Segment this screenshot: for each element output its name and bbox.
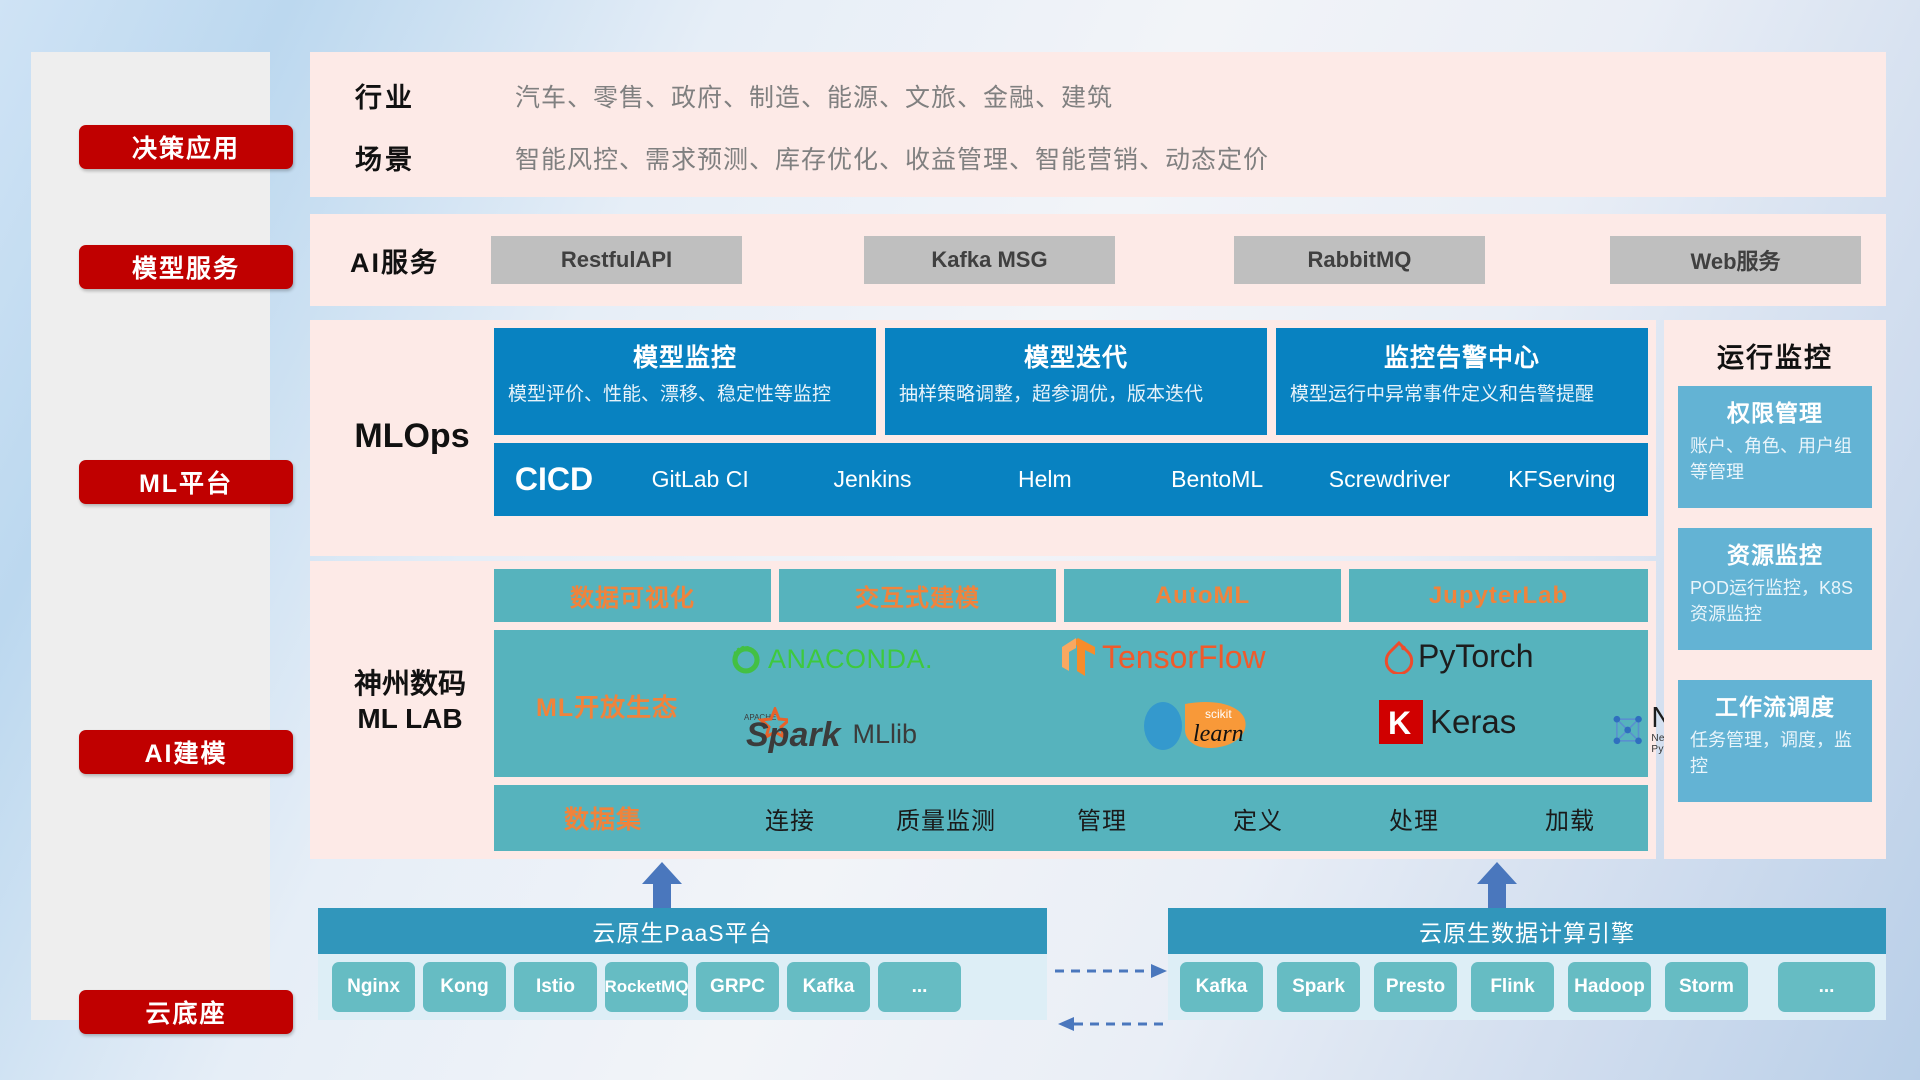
rail-item-cloud-base[interactable]: 云底座	[79, 990, 293, 1034]
chip-label: Istio	[536, 977, 575, 998]
runtime-monitor-title: 运行监控	[1664, 336, 1886, 375]
dashed-arrow-right	[1055, 962, 1170, 980]
rail-item-ml-platform[interactable]: ML平台	[79, 460, 293, 504]
anaconda-icon	[729, 642, 763, 676]
tab-label: JupyterLab	[1429, 582, 1568, 610]
service-button-web-service[interactable]: Web服务	[1610, 236, 1861, 284]
chip-more-engine[interactable]: ...	[1778, 962, 1875, 1012]
chip-presto[interactable]: Presto	[1374, 962, 1457, 1012]
chip-label: Flink	[1490, 977, 1534, 998]
arrow-up-to-modeling-left	[640, 862, 684, 914]
rail-item-ai-modeling[interactable]: AI建模	[79, 730, 293, 774]
mlops-panel: MLOps 模型监控 模型评价、性能、漂移、稳定性等监控 模型迭代 抽样策略调整…	[310, 320, 1656, 556]
spark-mllib-logo: APACHE Spark MLlib	[742, 702, 917, 755]
tab-label: AutoML	[1155, 582, 1250, 610]
cicd-item-screwdriver[interactable]: Screwdriver	[1303, 467, 1475, 491]
chip-storm[interactable]: Storm	[1665, 962, 1748, 1012]
svg-text:learn: learn	[1193, 721, 1244, 747]
svg-text:K: K	[1388, 705, 1411, 741]
runtime-monitor-panel: 运行监控 权限管理 账户、角色、用户组等管理 资源监控 POD运行监控，K8S资…	[1664, 320, 1886, 859]
scikit-learn-icon: scikit learn	[1139, 696, 1269, 752]
scenario-label-industry: 行业	[355, 76, 415, 115]
keras-wordmark: Keras	[1430, 703, 1516, 741]
scenario-text-scene: 智能风控、需求预测、库存优化、收益管理、智能营销、动态定价	[515, 140, 1269, 176]
chip-label: Nginx	[347, 977, 400, 998]
pytorch-wordmark: PyTorch	[1418, 638, 1534, 675]
ai-service-panel: AI服务 RestfulAPI Kafka MSG RabbitMQ Web服务	[310, 214, 1886, 306]
scikit-learn-logo: scikit learn	[1139, 696, 1269, 752]
anaconda-wordmark: ANACONDA.	[768, 644, 933, 675]
card-desc: 账户、角色、用户组等管理	[1690, 434, 1860, 485]
chip-grpc[interactable]: GRPC	[696, 962, 779, 1012]
mlops-card-alert-center[interactable]: 监控告警中心 模型运行中异常事件定义和告警提醒	[1276, 328, 1648, 435]
chip-label: GRPC	[710, 977, 765, 998]
ai-modeling-panel: 神州数码 ML LAB 数据可视化 交互式建模 AutoML JupyterLa…	[310, 561, 1656, 859]
mlops-label: MLOps	[332, 406, 492, 466]
card-desc: 抽样策略调整，超参调优，版本迭代	[899, 382, 1253, 409]
chip-kafka-engine[interactable]: Kafka	[1180, 962, 1263, 1012]
chip-istio[interactable]: Istio	[514, 962, 597, 1012]
service-button-rabbitmq[interactable]: RabbitMQ	[1234, 236, 1485, 284]
cicd-item-jenkins[interactable]: Jenkins	[786, 467, 958, 491]
ai-modeling-label-line2: ML LAB	[330, 701, 490, 736]
chip-label: Spark	[1292, 977, 1345, 998]
chip-label: Kafka	[1196, 977, 1248, 998]
monitor-card-workflow[interactable]: 工作流调度 任务管理，调度，监控	[1678, 680, 1872, 802]
monitor-card-resource[interactable]: 资源监控 POD运行监控，K8S资源监控	[1678, 528, 1872, 650]
tensorflow-logo: TensorFlow	[1059, 636, 1266, 678]
anaconda-logo: ANACONDA.	[729, 642, 933, 676]
dataset-item-define[interactable]: 定义	[1180, 801, 1336, 836]
tab-jupyterlab[interactable]: JupyterLab	[1349, 569, 1648, 622]
mlops-card-model-monitor[interactable]: 模型监控 模型评价、性能、漂移、稳定性等监控	[494, 328, 876, 435]
tab-interactive-modeling[interactable]: 交互式建模	[779, 569, 1056, 622]
card-title: 权限管理	[1690, 394, 1860, 428]
rail-item-decision-apps[interactable]: 决策应用	[79, 125, 293, 169]
tensorflow-icon	[1059, 636, 1099, 678]
card-title: 资源监控	[1690, 536, 1860, 570]
tab-automl[interactable]: AutoML	[1064, 569, 1341, 622]
scenario-label-scene: 场景	[355, 138, 415, 177]
rail-label: ML平台	[139, 464, 233, 500]
dataset-label: 数据集	[494, 800, 712, 836]
service-button-kafka-msg[interactable]: Kafka MSG	[864, 236, 1115, 284]
left-rail: 决策应用 模型服务 ML平台 AI建模 云底座	[31, 52, 270, 1020]
keras-icon: K	[1379, 700, 1423, 744]
tab-data-visualization[interactable]: 数据可视化	[494, 569, 771, 622]
mllib-wordmark: MLlib	[853, 719, 918, 750]
chip-label: RocketMQ	[604, 978, 688, 997]
tensorflow-wordmark: TensorFlow	[1102, 639, 1266, 676]
card-title: 模型迭代	[899, 338, 1253, 374]
rail-label: AI建模	[144, 734, 227, 770]
chip-hadoop[interactable]: Hadoop	[1568, 962, 1651, 1012]
arrow-up-to-modeling-right	[1475, 862, 1519, 914]
ai-service-label: AI服务	[350, 239, 500, 281]
chip-label: ...	[912, 977, 928, 998]
cicd-title: CICD	[494, 461, 614, 498]
svg-text:scikit: scikit	[1205, 707, 1232, 721]
card-title: 监控告警中心	[1290, 338, 1634, 374]
chip-kafka-paas[interactable]: Kafka	[787, 962, 870, 1012]
mlops-card-model-iteration[interactable]: 模型迭代 抽样策略调整，超参调优，版本迭代	[885, 328, 1267, 435]
rail-label: 模型服务	[132, 249, 240, 285]
cloud-paas-header: 云原生PaaS平台	[318, 908, 1047, 954]
keras-logo: K Keras	[1379, 700, 1516, 744]
ai-modeling-label-line1: 神州数码	[330, 666, 490, 701]
rail-label: 决策应用	[132, 129, 240, 165]
chip-more-paas[interactable]: ...	[878, 962, 961, 1012]
chip-label: Kafka	[803, 977, 855, 998]
chip-rocketmq[interactable]: RocketMQ	[605, 962, 688, 1012]
cicd-item-kfserving[interactable]: KFServing	[1476, 467, 1648, 491]
chip-label: Kong	[440, 977, 489, 998]
chip-flink[interactable]: Flink	[1471, 962, 1554, 1012]
networkx-icon	[1609, 711, 1646, 749]
cloud-data-engine-header: 云原生数据计算引擎	[1168, 908, 1886, 954]
monitor-card-permission[interactable]: 权限管理 账户、角色、用户组等管理	[1678, 386, 1872, 508]
card-title: 模型监控	[508, 338, 862, 374]
card-desc: POD运行监控，K8S资源监控	[1690, 576, 1860, 627]
pytorch-icon	[1384, 640, 1414, 674]
pytorch-logo: PyTorch	[1384, 638, 1534, 675]
dashed-arrow-left	[1055, 1015, 1170, 1033]
chip-nginx[interactable]: Nginx	[332, 962, 415, 1012]
tab-label: 交互式建模	[855, 578, 980, 613]
chip-kong[interactable]: Kong	[423, 962, 506, 1012]
dataset-item-connect[interactable]: 连接	[712, 801, 868, 836]
cicd-item-bentoml[interactable]: BentoML	[1131, 467, 1303, 491]
dataset-item-process[interactable]: 处理	[1336, 801, 1492, 836]
ml-ecosystem-band: ML开放生态 ANACONDA. TensorFlow	[494, 630, 1648, 777]
scenario-panel: 行业 汽车、零售、政府、制造、能源、文旅、金融、建筑 场景 智能风控、需求预测、…	[310, 52, 1886, 197]
chip-label: Storm	[1679, 977, 1734, 998]
dataset-item-quality[interactable]: 质量监测	[868, 801, 1024, 836]
chip-label: Presto	[1386, 977, 1445, 998]
scenario-text-industry: 汽车、零售、政府、制造、能源、文旅、金融、建筑	[515, 78, 1113, 114]
card-title: 工作流调度	[1690, 688, 1860, 722]
service-button-label: Kafka MSG	[931, 247, 1047, 273]
dataset-band: 数据集 连接 质量监测 管理 定义 处理 加载	[494, 785, 1648, 851]
chip-label: ...	[1819, 977, 1835, 998]
chip-label: Hadoop	[1574, 977, 1645, 998]
service-button-label: Web服务	[1690, 244, 1780, 276]
card-desc: 模型运行中异常事件定义和告警提醒	[1290, 382, 1634, 409]
tab-label: 数据可视化	[570, 578, 695, 613]
dataset-item-manage[interactable]: 管理	[1024, 801, 1180, 836]
ai-modeling-label: 神州数码 ML LAB	[330, 666, 490, 736]
card-desc: 任务管理，调度，监控	[1690, 728, 1860, 779]
dataset-item-load[interactable]: 加载	[1492, 801, 1648, 836]
diagram-canvas: 决策应用 模型服务 ML平台 AI建模 云底座 行业 汽车、零售、政府、制造、能…	[0, 0, 1920, 1080]
service-button-label: RestfulAPI	[561, 247, 672, 273]
spark-wordmark: Spark	[746, 716, 841, 755]
cicd-item-gitlab-ci[interactable]: GitLab CI	[614, 467, 786, 491]
ml-ecosystem-label: ML开放生态	[536, 688, 678, 724]
card-desc: 模型评价、性能、漂移、稳定性等监控	[508, 382, 862, 409]
cicd-item-helm[interactable]: Helm	[959, 467, 1131, 491]
chip-spark[interactable]: Spark	[1277, 962, 1360, 1012]
rail-label: 云底座	[145, 994, 226, 1030]
service-button-restfulapi[interactable]: RestfulAPI	[491, 236, 742, 284]
cicd-bar: CICD GitLab CI Jenkins Helm BentoML Scre…	[494, 443, 1648, 516]
rail-item-model-service[interactable]: 模型服务	[79, 245, 293, 289]
service-button-label: RabbitMQ	[1308, 247, 1412, 273]
